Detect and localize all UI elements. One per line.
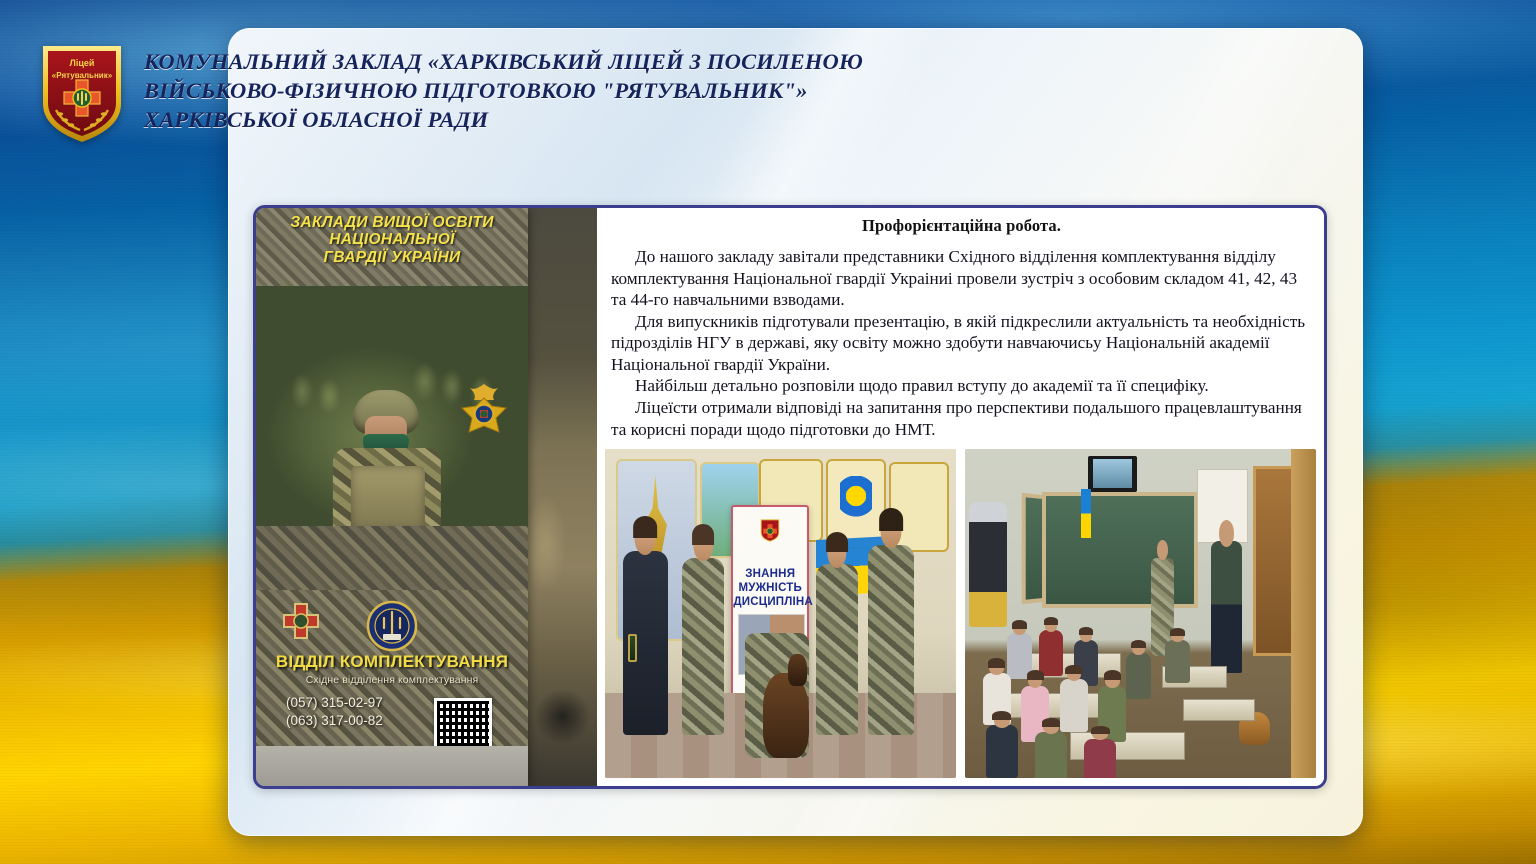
svg-text:«Рятувальник»: «Рятувальник» — [52, 71, 113, 80]
article-paragraph: Для випускників підготували презентацію,… — [611, 311, 1312, 376]
academy-logo-icon — [366, 600, 418, 652]
dsns-logo-icon — [278, 598, 324, 644]
student-figure — [986, 725, 1018, 778]
article-paragraph: Ліцеїсти отримали відповіді на запитання… — [611, 397, 1312, 440]
student-figure — [1035, 732, 1067, 778]
student-figure — [1165, 640, 1190, 683]
recruitment-poster-board: ЗАКЛАДИ ВИЩОЇ ОСВІТИ НАЦІОНАЛЬНОЇ ГВАРДІ… — [256, 208, 528, 786]
group-photo-with-service-dog: ЗНАННЯ МУЖНІСТЬ ДИСЦИПЛІНА — [605, 449, 956, 778]
poster-phone-numbers: (057) 315-02-97 (063) 317-00-82 — [286, 694, 383, 729]
litsey-riatuvalnyk-emblem: Ліцей «Рятувальник» — [38, 42, 126, 146]
classroom-presentation-photo — [965, 449, 1316, 778]
slide-header: Ліцей «Рятувальник» КОМУНАЛЬНИЙ ЗАКЛАД «… — [26, 22, 1510, 170]
poster-photo: ЗАКЛАДИ ВИЩОЇ ОСВІТИ НАЦІОНАЛЬНОЇ ГВАРДІ… — [256, 208, 597, 786]
article-text-panel: Профорієнтаційна робота. До нашого закла… — [597, 208, 1324, 444]
ukraine-flag-decoration — [1081, 489, 1092, 538]
nhu-badge-icon — [458, 382, 510, 444]
svg-text:Ліцей: Ліцей — [70, 58, 95, 68]
service-dog — [763, 673, 809, 758]
nhu-crest-icon — [758, 518, 783, 560]
content-right-column: Профорієнтаційна робота. До нашого закла… — [597, 208, 1324, 786]
student-figure — [1084, 739, 1116, 778]
firefighter-mannequin — [969, 502, 1008, 627]
student-figure — [1126, 653, 1151, 699]
serviceman-figure — [868, 545, 914, 736]
article-heading: Профорієнтаційна робота. — [611, 216, 1312, 236]
chalkboard — [1042, 492, 1197, 609]
rescuer-figure — [623, 551, 669, 735]
article-paragraph: Найбільш детально розповіли щодо правил … — [611, 375, 1312, 397]
student-figure — [1039, 630, 1064, 676]
wall-monitor — [1088, 456, 1137, 492]
award-plaque — [628, 634, 637, 662]
article-paragraph: До нашого закладу завітали представники … — [611, 246, 1312, 311]
photo-row: ЗНАННЯ МУЖНІСТЬ ДИСЦИПЛІНА — [597, 444, 1324, 786]
dog-handler — [1211, 541, 1243, 673]
organization-title: КОМУНАЛЬНИЙ ЗАКЛАД «ХАРКІВСЬКИЙ ЛІЦЕЙ З … — [144, 48, 863, 134]
banner-motto: ЗНАННЯ МУЖНІСТЬ ДИСЦИПЛІНА — [733, 567, 807, 609]
student-figure — [1060, 679, 1088, 732]
content-frame: ЗАКЛАДИ ВИЩОЇ ОСВІТИ НАЦІОНАЛЬНОЇ ГВАРДІ… — [253, 205, 1327, 789]
poster-footer-subtitle: Східне відділення комплектування — [256, 674, 528, 686]
poster-heading: ЗАКЛАДИ ВИЩОЇ ОСВІТИ НАЦІОНАЛЬНОЇ ГВАРДІ… — [256, 214, 528, 266]
poster-footer-title: ВІДДІЛ КОМПЛЕКТУВАННЯ — [256, 652, 528, 672]
servicewoman-figure — [682, 558, 724, 736]
servicewoman-figure — [816, 564, 858, 735]
